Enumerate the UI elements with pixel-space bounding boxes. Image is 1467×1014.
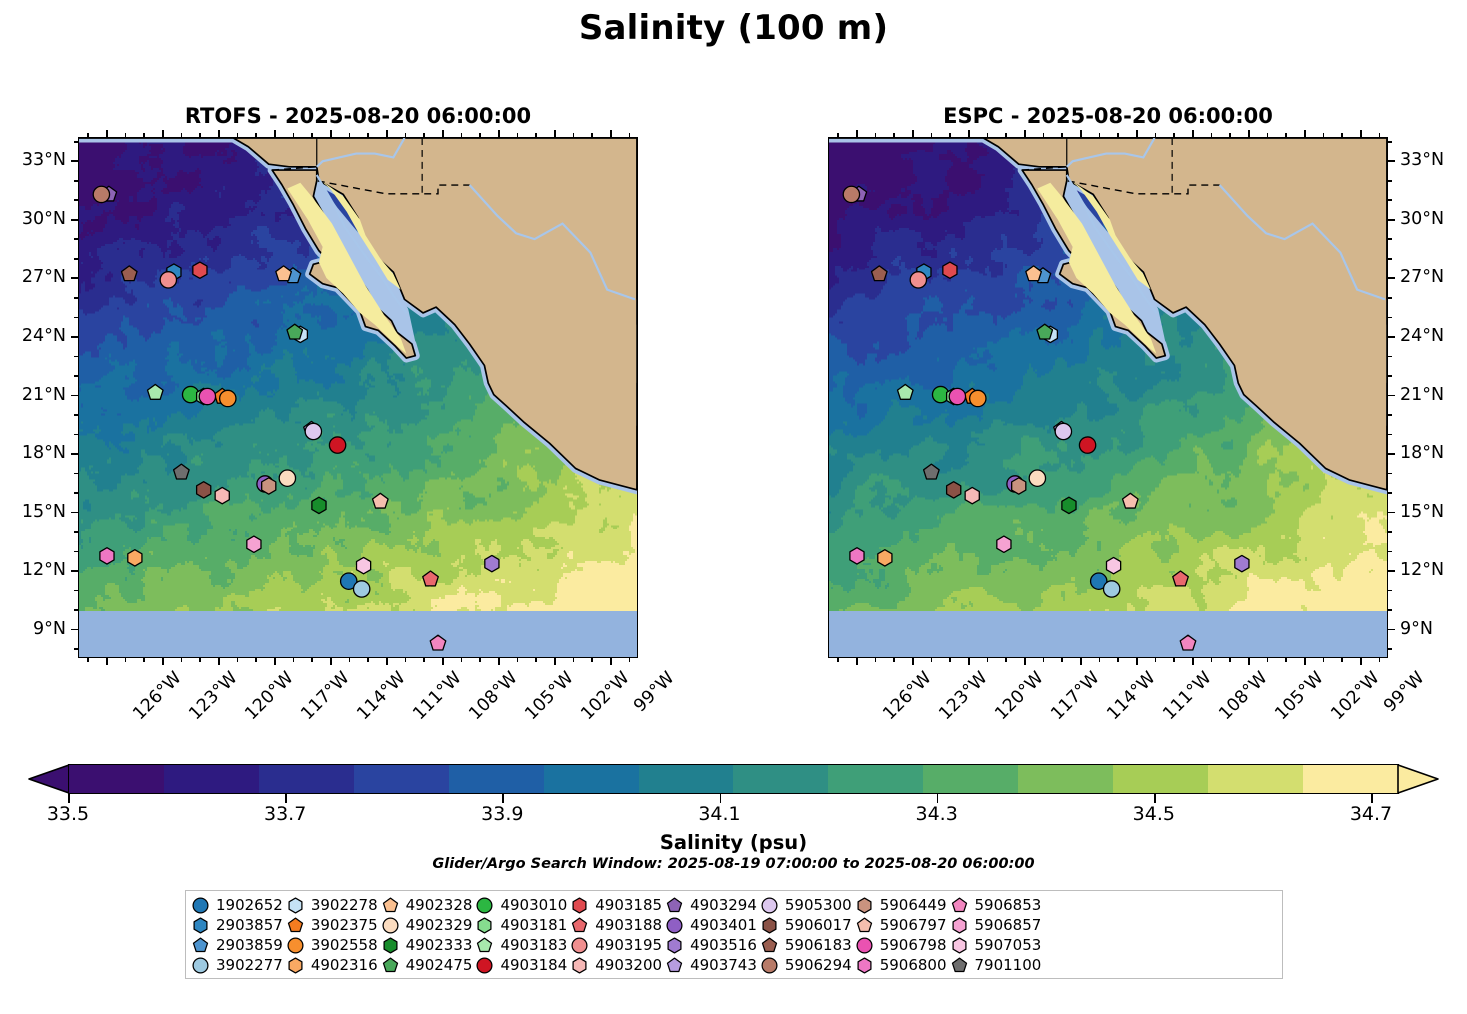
legend-marker-hexagon-icon — [287, 957, 304, 974]
x-axis-tick-label: 102°W — [577, 668, 633, 724]
legend-item[interactable]: 4902328 — [382, 896, 473, 914]
legend-label: 4902333 — [406, 936, 473, 954]
x-axis-tick — [610, 130, 612, 137]
x-axis-tick — [442, 658, 444, 665]
legend-item[interactable]: 4902329 — [382, 916, 473, 934]
x-axis-tick-label: 120°W — [991, 668, 1047, 724]
x-axis-tick-label: 123°W — [935, 668, 991, 724]
y-axis-tick — [1388, 160, 1395, 162]
platform-marker-4903200[interactable] — [965, 487, 979, 503]
x-axis-tick — [1248, 130, 1250, 137]
platform-marker-4903200[interactable] — [215, 487, 229, 503]
platform-marker-5906449[interactable] — [1012, 478, 1026, 494]
platform-marker-4903183[interactable] — [898, 384, 914, 399]
y-axis-minor-tick — [1388, 297, 1392, 299]
platform-marker-5907053[interactable] — [1107, 557, 1121, 573]
x-axis-tick — [1080, 658, 1082, 665]
y-axis-minor-tick — [74, 297, 78, 299]
y-axis-tick-label: 18°N — [0, 443, 66, 463]
x-axis-minor-tick — [237, 133, 239, 137]
legend-item[interactable]: 5906853 — [951, 896, 1042, 914]
x-axis-minor-tick — [1323, 133, 1325, 137]
platform-marker-3902558[interactable] — [970, 390, 986, 406]
x-axis-minor-tick — [1211, 658, 1213, 662]
x-axis-minor-tick — [479, 133, 481, 137]
platform-marker-4902333[interactable] — [312, 497, 326, 513]
legend-item[interactable]: 4903188 — [571, 916, 662, 934]
colorbar-tick — [502, 794, 504, 803]
y-axis-tick-label: 15°N — [0, 502, 66, 522]
legend-marker-circle-icon — [382, 917, 399, 934]
platform-markers[interactable] — [79, 138, 637, 657]
legend-marker-hexagon-icon — [856, 957, 873, 974]
x-axis-tick — [1192, 658, 1194, 665]
map-panel-rtofs: RTOFS - 2025-08-20 06:00:00 — [78, 137, 638, 658]
x-axis-tick — [912, 130, 914, 137]
map-canvas-rtofs[interactable] — [78, 137, 638, 658]
legend-label: 3902277 — [216, 956, 283, 974]
legend-marker-circle-icon — [761, 897, 778, 914]
legend-item[interactable]: 4903743 — [666, 956, 757, 974]
platform-marker-5906183[interactable] — [872, 266, 888, 281]
colorbar-tick-label: 34.1 — [698, 803, 740, 825]
legend-item[interactable]: 2903859 — [192, 936, 283, 954]
legend-item[interactable]: 2903857 — [192, 916, 283, 934]
x-axis-tick — [1248, 658, 1250, 665]
x-axis-tick — [968, 658, 970, 665]
colorbar-segment-2 — [259, 765, 354, 793]
x-axis-minor-tick — [125, 658, 127, 662]
x-axis-tick-label: 108°W — [1215, 668, 1271, 724]
legend-column-2: 4902328490232949023334902475 — [382, 896, 473, 974]
x-axis-minor-tick — [367, 133, 369, 137]
legend-item[interactable]: 3902277 — [192, 956, 283, 974]
colorbar-segment-6 — [639, 765, 734, 793]
platform-marker-5906797[interactable] — [373, 493, 389, 508]
legend-item[interactable]: 5906017 — [761, 916, 852, 934]
colorbar-segment-9 — [923, 765, 1018, 793]
colorbar-segment-8 — [828, 765, 923, 793]
x-axis-minor-tick — [535, 133, 537, 137]
y-axis-minor-tick — [1388, 180, 1392, 182]
platform-marker-3902558[interactable] — [220, 390, 236, 406]
x-axis-minor-tick — [837, 133, 839, 137]
x-axis-minor-tick — [1005, 133, 1007, 137]
y-axis-minor-tick — [74, 551, 78, 553]
colorbar-tick — [1371, 794, 1373, 803]
x-axis-minor-tick — [1379, 658, 1381, 662]
legend-item[interactable]: 4903195 — [571, 936, 662, 954]
x-axis-minor-tick — [181, 133, 183, 137]
legend-item[interactable]: 5906857 — [951, 916, 1042, 934]
platform-marker-4903516[interactable] — [485, 555, 499, 571]
legend-label: 4903401 — [690, 916, 757, 934]
y-axis-minor-tick — [1388, 317, 1392, 319]
y-axis-minor-tick — [74, 238, 78, 240]
legend-item[interactable]: 4903294 — [666, 896, 757, 914]
x-axis-tick — [1024, 130, 1026, 137]
platform-marker-4903185[interactable] — [943, 262, 957, 278]
y-axis-minor-tick — [1388, 414, 1392, 416]
platform-marker-3902277[interactable] — [354, 581, 370, 597]
x-axis-tick-label: 105°W — [521, 668, 577, 724]
x-axis-tick-label: 99°W — [630, 668, 678, 716]
legend-label: 2903859 — [216, 936, 283, 954]
platform-marker-5906449[interactable] — [262, 478, 276, 494]
platform-marker-5906798[interactable] — [949, 388, 965, 404]
y-axis-tick — [1388, 453, 1395, 455]
platform-marker-4903185[interactable] — [193, 262, 207, 278]
y-axis-minor-tick — [74, 648, 78, 650]
map-canvas-espc[interactable] — [828, 137, 1388, 658]
legend-marker-hexagon-icon — [287, 897, 304, 914]
legend-item[interactable]: 5906449 — [856, 896, 947, 914]
platform-marker-4903183[interactable] — [148, 384, 164, 399]
y-axis-minor-tick — [74, 414, 78, 416]
colorbar-tick-label: 33.9 — [481, 803, 523, 825]
x-axis-minor-tick — [199, 658, 201, 662]
legend-item[interactable]: 4903181 — [476, 916, 567, 934]
x-axis-tick-label: 99°W — [1380, 668, 1428, 716]
legend-label: 7901100 — [975, 956, 1042, 974]
legend-item[interactable]: 3902558 — [287, 936, 378, 954]
y-axis-tick — [1388, 336, 1395, 338]
y-axis-minor-tick — [1388, 238, 1392, 240]
x-axis-tick — [554, 130, 556, 137]
legend-item[interactable]: 4902475 — [382, 956, 473, 974]
panel-title-rtofs: RTOFS - 2025-08-20 06:00:00 — [78, 104, 638, 128]
legend-marker-hexagon-icon — [761, 917, 778, 934]
x-axis-minor-tick — [875, 133, 877, 137]
x-axis-minor-tick — [1267, 133, 1269, 137]
x-axis-minor-tick — [125, 133, 127, 137]
x-axis-minor-tick — [349, 658, 351, 662]
legend-label: 4903181 — [500, 916, 567, 934]
legend-marker-hexagon-icon — [951, 937, 968, 954]
platform-marker-5906017[interactable] — [947, 482, 961, 498]
legend-item[interactable]: 4903184 — [476, 956, 567, 974]
x-axis-tick — [106, 658, 108, 665]
y-axis-minor-tick — [1388, 356, 1392, 358]
x-axis-tick — [498, 658, 500, 665]
legend-label: 3902375 — [311, 916, 378, 934]
gulf-of-mexico-sliver — [637, 299, 638, 425]
y-axis-minor-tick — [1388, 492, 1392, 494]
legend-marker-hexagon-icon — [951, 917, 968, 934]
y-axis-tick-label: 30°N — [0, 209, 66, 229]
x-axis-minor-tick — [311, 658, 313, 662]
x-axis-minor-tick — [143, 658, 145, 662]
x-axis-minor-tick — [1061, 133, 1063, 137]
legend-label: 4903195 — [595, 936, 662, 954]
x-axis-minor-tick — [1323, 658, 1325, 662]
y-axis-minor-tick — [74, 199, 78, 201]
x-axis-minor-tick — [591, 133, 593, 137]
platform-marker-5907053[interactable] — [357, 557, 371, 573]
x-axis-tick — [218, 658, 220, 665]
x-axis-minor-tick — [405, 658, 407, 662]
x-axis-minor-tick — [987, 133, 989, 137]
platform-marker-4903188[interactable] — [1173, 571, 1189, 586]
colorbar-tick-label: 33.5 — [47, 803, 89, 825]
platform-marker-4902316[interactable] — [128, 550, 142, 566]
colorbar-tick-label: 34.5 — [1133, 803, 1175, 825]
legend-label: 4903183 — [500, 936, 567, 954]
legend-item[interactable]: 5906294 — [761, 956, 852, 974]
x-axis-minor-tick — [1341, 133, 1343, 137]
x-axis-minor-tick — [893, 658, 895, 662]
platform-marker-4903195[interactable] — [160, 272, 176, 288]
legend-item[interactable]: 1902652 — [192, 896, 283, 914]
legend-item[interactable]: 7901100 — [951, 956, 1042, 974]
legend-item[interactable]: 4903185 — [571, 896, 662, 914]
x-axis-minor-tick — [423, 133, 425, 137]
y-axis-tick-label: 27°N — [1400, 267, 1444, 287]
legend-item[interactable]: 5905300 — [761, 896, 852, 914]
legend-marker-circle-icon — [856, 937, 873, 954]
x-axis-minor-tick — [479, 658, 481, 662]
y-axis-tick-label: 12°N — [1400, 560, 1444, 580]
y-axis-minor-tick — [74, 590, 78, 592]
legend-label: 5906183 — [785, 936, 852, 954]
y-axis-tick — [71, 336, 78, 338]
platform-marker-5906800[interactable] — [850, 548, 864, 564]
legend-item[interactable]: 4903516 — [666, 936, 757, 954]
legend-label: 5905300 — [785, 896, 852, 914]
panel-title-espc: ESPC - 2025-08-20 06:00:00 — [828, 104, 1388, 128]
x-axis-tick-label: 114°W — [353, 668, 409, 724]
platform-marker-4903195[interactable] — [910, 272, 926, 288]
legend-label: 4903516 — [690, 936, 757, 954]
legend-marker-circle-icon — [287, 937, 304, 954]
y-axis-tick-label: 18°N — [1400, 443, 1444, 463]
x-axis-tick — [610, 658, 612, 665]
x-axis-tick — [554, 658, 556, 665]
x-axis-minor-tick — [1043, 133, 1045, 137]
legend-item[interactable]: 4903401 — [666, 916, 757, 934]
x-axis-minor-tick — [311, 133, 313, 137]
x-axis-minor-tick — [87, 658, 89, 662]
x-axis-tick — [274, 130, 276, 137]
legend-item[interactable]: 4903183 — [476, 936, 567, 954]
y-axis-minor-tick — [1388, 531, 1392, 533]
x-axis-tick-label: 102°W — [1327, 668, 1383, 724]
y-axis-minor-tick — [74, 317, 78, 319]
x-axis-tick — [330, 130, 332, 137]
colorbar-segment-4 — [449, 765, 544, 793]
legend-label: 5906797 — [880, 916, 947, 934]
platform-marker-5905300[interactable] — [1055, 423, 1071, 439]
x-axis-minor-tick — [1117, 658, 1119, 662]
legend-label: 5906017 — [785, 916, 852, 934]
x-axis-tick-label: 114°W — [1103, 668, 1159, 724]
legend-item[interactable]: 5906797 — [856, 916, 947, 934]
y-axis-minor-tick — [1388, 199, 1392, 201]
colorbar — [28, 764, 1439, 794]
legend-label: 4902316 — [311, 956, 378, 974]
x-axis-tick-label: 117°W — [297, 668, 353, 724]
legend-item[interactable]: 4903010 — [476, 896, 567, 914]
x-axis-tick — [856, 130, 858, 137]
platform-marker-5906857[interactable] — [997, 536, 1011, 552]
legend-marker-circle-icon — [666, 917, 683, 934]
y-axis-tick-label: 24°N — [1400, 326, 1444, 346]
legend-label: 4903185 — [595, 896, 662, 914]
y-axis-minor-tick — [1388, 473, 1392, 475]
platform-marker-4902316[interactable] — [878, 550, 892, 566]
legend-column-1: 3902278390237539025584902316 — [287, 896, 378, 974]
x-axis-minor-tick — [1229, 133, 1231, 137]
platform-marker-5906798[interactable] — [199, 388, 215, 404]
platform-marker-4902329[interactable] — [279, 470, 295, 486]
colorbar-segment-7 — [733, 765, 828, 793]
platform-marker-4903516[interactable] — [1235, 555, 1249, 571]
y-axis-tick-label: 9°N — [0, 619, 66, 639]
y-axis-tick-label: 15°N — [1400, 502, 1444, 522]
legend-label: 4903200 — [595, 956, 662, 974]
x-axis-minor-tick — [1099, 133, 1101, 137]
x-axis-minor-tick — [517, 658, 519, 662]
platform-marker-5906183[interactable] — [122, 266, 138, 281]
x-axis-tick-label: 111°W — [1159, 668, 1215, 724]
legend-marker-circle-icon — [476, 957, 493, 974]
y-axis-minor-tick — [1388, 258, 1392, 260]
platform-marker-4902328[interactable] — [276, 266, 292, 281]
legend-label: 4903743 — [690, 956, 757, 974]
y-axis-tick-label: 24°N — [0, 326, 66, 346]
x-axis-tick — [106, 130, 108, 137]
y-axis-tick — [1388, 629, 1395, 631]
legend-item[interactable]: 5907053 — [951, 936, 1042, 954]
legend-label: 3902278 — [311, 896, 378, 914]
colorbar-tick — [1154, 794, 1156, 803]
x-axis-tick-label: 126°W — [129, 668, 185, 724]
x-axis-tick — [968, 130, 970, 137]
legend-item[interactable]: 4902316 — [287, 956, 378, 974]
legend-label: 5906294 — [785, 956, 852, 974]
y-axis-tick — [1388, 219, 1395, 221]
legend-label: 5906853 — [975, 896, 1042, 914]
legend-marker-pentagon-icon — [856, 917, 873, 934]
x-axis-minor-tick — [1379, 133, 1381, 137]
y-axis-minor-tick — [1388, 434, 1392, 436]
platform-marker-5906797[interactable] — [1123, 493, 1139, 508]
platform-marker-5906017[interactable] — [197, 482, 211, 498]
x-axis-minor-tick — [87, 133, 89, 137]
platform-marker-3902277[interactable] — [1104, 581, 1120, 597]
x-axis-tick — [1304, 658, 1306, 665]
legend-marker-hexagon-icon — [571, 897, 588, 914]
x-axis-minor-tick — [1005, 658, 1007, 662]
platform-marker-4902328[interactable] — [1026, 266, 1042, 281]
legend-item[interactable]: 4902333 — [382, 936, 473, 954]
legend-item[interactable]: 3902375 — [287, 916, 378, 934]
legend-marker-hexagon-icon — [856, 897, 873, 914]
legend-marker-pentagon-icon — [571, 917, 588, 934]
y-axis-tick — [71, 160, 78, 162]
x-axis-tick — [498, 130, 500, 137]
x-axis-minor-tick — [293, 658, 295, 662]
platform-marker-7901100[interactable] — [924, 464, 940, 479]
platform-marker-5906294[interactable] — [843, 186, 859, 202]
legend-marker-pentagon-icon — [192, 937, 209, 954]
platform-markers[interactable] — [829, 138, 1387, 657]
search-window-caption: Glider/Argo Search Window: 2025-08-19 07… — [0, 856, 1467, 872]
legend-marker-circle-icon — [571, 937, 588, 954]
platform-marker-5906857[interactable] — [247, 536, 261, 552]
legend-label: 5906857 — [975, 916, 1042, 934]
legend-marker-circle-icon — [761, 957, 778, 974]
x-axis-minor-tick — [573, 133, 575, 137]
legend-marker-pentagon-icon — [666, 897, 683, 914]
x-axis-tick — [218, 130, 220, 137]
legend-item[interactable]: 5906798 — [856, 936, 947, 954]
legend-label: 4902329 — [406, 916, 473, 934]
x-axis-tick — [1360, 658, 1362, 665]
legend-label: 1902652 — [216, 896, 283, 914]
y-axis-tick — [1388, 512, 1395, 514]
y-axis-minor-tick — [74, 180, 78, 182]
platform-marker-5906853[interactable] — [430, 635, 446, 650]
platform-marker-4902329[interactable] — [1029, 470, 1045, 486]
platform-marker-5905300[interactable] — [305, 423, 321, 439]
platform-marker-4902333[interactable] — [1062, 497, 1076, 513]
platform-marker-5906800[interactable] — [100, 548, 114, 564]
platform-marker-4903188[interactable] — [423, 571, 439, 586]
x-axis-minor-tick — [1043, 658, 1045, 662]
legend-item[interactable]: 5906800 — [856, 956, 947, 974]
legend-column-5: 4903294490340149035164903743 — [666, 896, 757, 974]
y-axis-tick-label: 27°N — [0, 267, 66, 287]
legend-label: 4903188 — [595, 916, 662, 934]
platform-marker-5906853[interactable] — [1180, 635, 1196, 650]
y-axis-tick-label: 30°N — [1400, 209, 1444, 229]
colorbar-segment-5 — [544, 765, 639, 793]
x-axis-minor-tick — [181, 658, 183, 662]
legend-marker-hexagon-icon — [571, 957, 588, 974]
colorbar-segment-3 — [354, 765, 449, 793]
x-axis-minor-tick — [949, 658, 951, 662]
y-axis-minor-tick — [74, 473, 78, 475]
colorbar-tick-label: 34.7 — [1350, 803, 1392, 825]
platform-marker-4903184[interactable] — [329, 437, 345, 453]
colorbar-segment-12 — [1208, 765, 1303, 793]
platform-marker-4903184[interactable] — [1079, 437, 1095, 453]
platform-marker-5906294[interactable] — [93, 186, 109, 202]
legend-marker-pentagon-icon — [476, 937, 493, 954]
y-axis-tick — [71, 277, 78, 279]
x-axis-tick-label: 126°W — [879, 668, 935, 724]
colorbar-segment-13 — [1303, 765, 1398, 793]
x-axis-minor-tick — [837, 658, 839, 662]
legend-item[interactable]: 3902278 — [287, 896, 378, 914]
legend-marker-pentagon-icon — [666, 957, 683, 974]
x-axis-minor-tick — [367, 658, 369, 662]
x-axis-minor-tick — [255, 133, 257, 137]
legend-marker-pentagon-icon — [287, 917, 304, 934]
legend-item[interactable]: 5906183 — [761, 936, 852, 954]
legend-label: 2903857 — [216, 916, 283, 934]
platform-marker-7901100[interactable] — [174, 464, 190, 479]
legend-item[interactable]: 4903200 — [571, 956, 662, 974]
x-axis-tick — [330, 658, 332, 665]
y-axis-tick-label: 21°N — [0, 385, 66, 405]
legend-label: 5907053 — [975, 936, 1042, 954]
colorbar-tick — [937, 794, 939, 803]
legend-label: 4903010 — [500, 896, 567, 914]
legend-label: 5906798 — [880, 936, 947, 954]
legend-label: 5906449 — [880, 896, 947, 914]
